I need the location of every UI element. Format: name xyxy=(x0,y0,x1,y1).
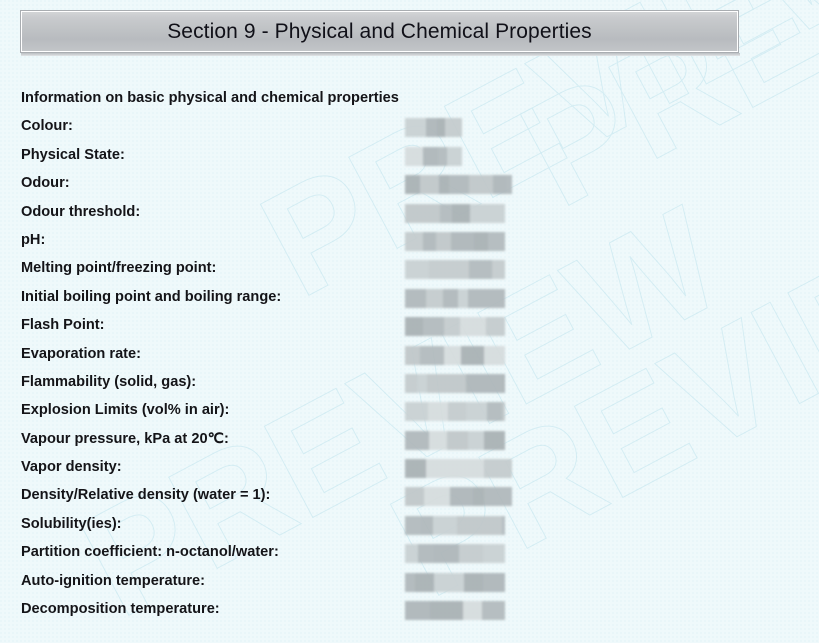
property-label: Partition coefficient: n-octanol/water: xyxy=(21,543,279,562)
property-value-redacted xyxy=(405,573,505,592)
property-value-redacted xyxy=(405,346,505,365)
property-row: Initial boiling point and boiling range: xyxy=(21,288,801,316)
property-row: Flash Point: xyxy=(21,316,801,344)
property-label: Density/Relative density (water = 1): xyxy=(21,486,270,505)
section-header-bar: Section 9 - Physical and Chemical Proper… xyxy=(21,11,738,52)
property-label: Evaporation rate: xyxy=(21,345,141,364)
property-value-redacted xyxy=(405,374,505,393)
property-value-redacted xyxy=(405,260,505,279)
property-value-redacted xyxy=(405,118,462,137)
property-row: Physical State: xyxy=(21,146,801,174)
property-row: Odour threshold: xyxy=(21,203,801,231)
property-label: Decomposition temperature: xyxy=(21,600,220,619)
property-value-redacted xyxy=(405,147,462,166)
property-value-redacted xyxy=(405,487,512,506)
property-row: Explosion Limits (vol% in air): xyxy=(21,401,801,429)
property-label: Auto-ignition temperature: xyxy=(21,572,205,591)
property-label: Odour: xyxy=(21,174,70,193)
property-label: Odour threshold: xyxy=(21,203,140,222)
property-value-redacted xyxy=(405,317,505,336)
property-value-redacted xyxy=(405,516,505,535)
property-row: Evaporation rate: xyxy=(21,345,801,373)
property-value-redacted xyxy=(405,232,505,251)
property-row: Colour: xyxy=(21,117,801,145)
property-value-redacted xyxy=(405,544,505,563)
property-label: Solubility(ies): xyxy=(21,515,122,534)
property-label: Vapour pressure, kPa at 20℃: xyxy=(21,430,229,449)
page-title: Section 9 - Physical and Chemical Proper… xyxy=(167,21,592,42)
property-label: Flammability (solid, gas): xyxy=(21,373,196,392)
property-row: pH: xyxy=(21,231,801,259)
property-value-redacted xyxy=(405,402,505,421)
property-value-redacted xyxy=(405,601,505,620)
properties-list: Information on basic physical and chemic… xyxy=(21,89,801,628)
property-row: Flammability (solid, gas): xyxy=(21,373,801,401)
property-label: Physical State: xyxy=(21,146,125,165)
property-label: Colour: xyxy=(21,117,73,136)
property-label: Initial boiling point and boiling range: xyxy=(21,288,281,307)
property-row: Vapor density: xyxy=(21,458,801,486)
property-value-redacted xyxy=(405,459,512,478)
property-label: Flash Point: xyxy=(21,316,105,335)
section-subheading-row: Information on basic physical and chemic… xyxy=(21,89,801,117)
property-value-redacted xyxy=(405,289,505,308)
property-label: Melting point/freezing point: xyxy=(21,259,216,278)
property-row: Density/Relative density (water = 1): xyxy=(21,486,801,514)
property-row: Decomposition temperature: xyxy=(21,600,801,628)
property-label: Vapor density: xyxy=(21,458,122,477)
section-subheading: Information on basic physical and chemic… xyxy=(21,89,399,108)
property-row: Solubility(ies): xyxy=(21,515,801,543)
property-row: Vapour pressure, kPa at 20℃: xyxy=(21,430,801,458)
property-row: Melting point/freezing point: xyxy=(21,259,801,287)
property-label: Explosion Limits (vol% in air): xyxy=(21,401,229,420)
property-label: pH: xyxy=(21,231,45,250)
property-row: Odour: xyxy=(21,174,801,202)
document-page: PREVIEW PREVIEW PREVIEW PREVIEW Section … xyxy=(0,0,819,643)
property-value-redacted xyxy=(405,204,505,223)
property-value-redacted xyxy=(405,175,512,194)
property-row: Partition coefficient: n-octanol/water: xyxy=(21,543,801,571)
header-underline xyxy=(21,53,740,56)
property-row: Auto-ignition temperature: xyxy=(21,572,801,600)
property-value-redacted xyxy=(405,431,505,450)
